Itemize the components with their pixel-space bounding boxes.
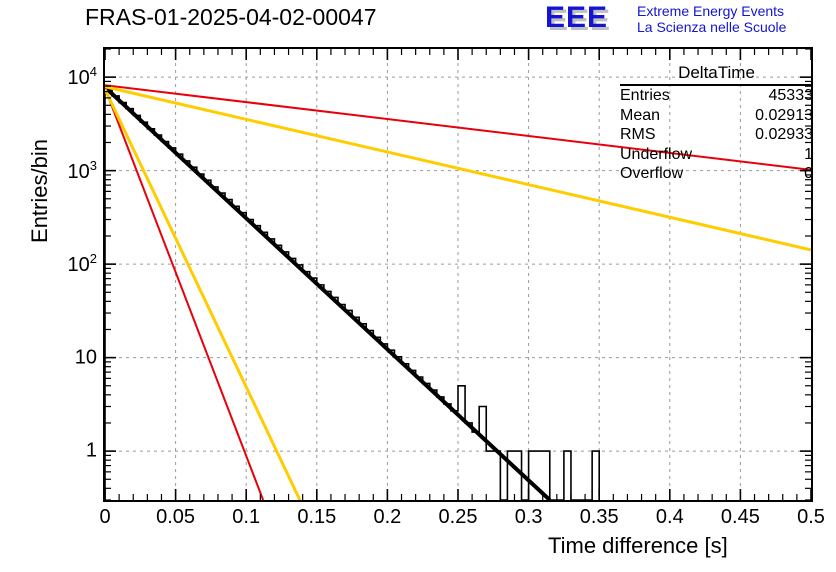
x-tick-label: 0.3 — [515, 506, 543, 529]
page-title: FRAS-01-2025-04-02-00047 — [85, 4, 377, 31]
y-tick-label: 104 — [68, 64, 97, 90]
x-tick-label: 0.4 — [656, 506, 684, 529]
eee-logo: EEE Extreme Energy Events La Scienza nel… — [545, 2, 835, 38]
y-tick-label: 103 — [68, 158, 97, 184]
stats-key: RMS — [620, 125, 656, 145]
stats-key: Entries — [620, 86, 670, 106]
eee-logo-text: Extreme Energy Events La Scienza nelle S… — [637, 3, 786, 35]
x-tick-label: 0.25 — [439, 506, 478, 529]
eee-logo-line1: Extreme Energy Events — [637, 3, 786, 19]
x-tick-label: 0 — [99, 506, 110, 529]
stats-row: Overflow0 — [620, 164, 813, 184]
stats-row: Mean0.02913 — [620, 106, 813, 126]
fit-line-red — [105, 88, 263, 500]
x-tick-label: 0.45 — [721, 506, 760, 529]
x-tick-label: 0.5 — [797, 506, 825, 529]
stats-value: 0.02913 — [755, 106, 813, 126]
stats-key: Mean — [620, 106, 660, 126]
y-axis-title: Entries/bin — [27, 91, 53, 291]
fit-line-yellow — [105, 89, 300, 500]
stats-value: 45333 — [769, 86, 814, 106]
x-tick-label: 0.1 — [232, 506, 260, 529]
histogram-outline — [105, 89, 599, 500]
stats-value: 0.02933 — [755, 125, 813, 145]
stats-box: DeltaTime Entries45333Mean0.02913RMS0.02… — [620, 63, 813, 184]
y-tick-label: 10 — [75, 346, 97, 369]
stats-key: Underflow — [620, 145, 692, 165]
y-tick-label: 102 — [68, 251, 97, 277]
eee-logo-mark: EEE — [545, 2, 608, 34]
stats-title: DeltaTime — [620, 63, 813, 86]
root-canvas: FRAS-01-2025-04-02-00047 EEE Extreme Ene… — [0, 0, 836, 572]
stats-row: RMS0.02933 — [620, 125, 813, 145]
eee-logo-line2: La Scienza nelle Scuole — [637, 19, 786, 35]
x-tick-label: 0.15 — [297, 506, 336, 529]
y-tick-label: 1 — [86, 440, 97, 463]
stats-rows: Entries45333Mean0.02913RMS0.02933Underfl… — [620, 86, 813, 184]
x-tick-label: 0.05 — [156, 506, 195, 529]
x-tick-label: 0.35 — [580, 506, 619, 529]
fit-line-main — [105, 87, 550, 500]
stats-row: Entries45333 — [620, 86, 813, 106]
stats-value: 1 — [804, 145, 813, 165]
x-tick-label: 0.2 — [373, 506, 401, 529]
stats-key: Overflow — [620, 164, 683, 184]
stats-value: 0 — [804, 164, 813, 184]
stats-row: Underflow1 — [620, 145, 813, 165]
x-axis-title: Time difference [s] — [548, 533, 728, 559]
